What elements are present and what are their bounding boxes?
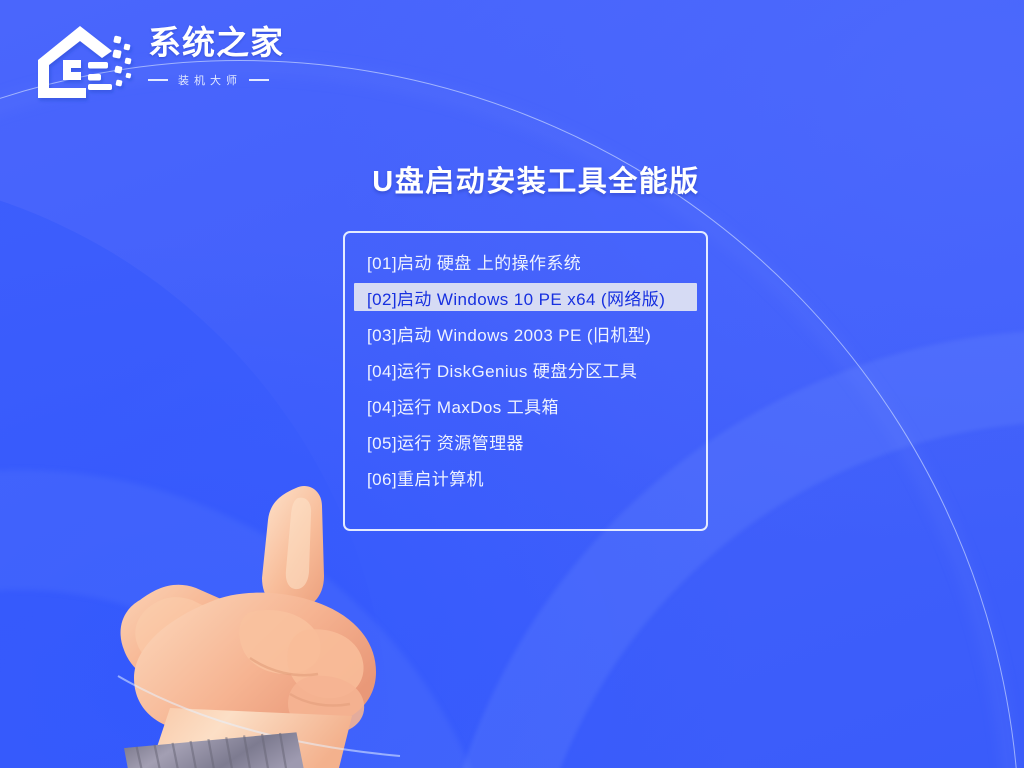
boot-menu-item-label: [04]运行 DiskGenius 硬盘分区工具	[367, 357, 637, 382]
brand-title: 系统之家	[148, 24, 298, 63]
pointing-hand-icon	[100, 480, 420, 768]
boot-menu-item[interactable]: [01]启动 硬盘 上的操作系统	[354, 247, 697, 275]
boot-menu-list[interactable]: [01]启动 硬盘 上的操作系统[02]启动 Windows 10 PE x64…	[345, 247, 706, 499]
boot-menu-item-label: [01]启动 硬盘 上的操作系统	[367, 249, 581, 274]
brand-logo: 系统之家 装机大师	[36, 18, 296, 106]
boot-menu-screen: 系统之家 装机大师 U盘启动安装工具全能版 [01]启动 硬盘 上的操作系统[0…	[0, 0, 1024, 768]
boot-menu-item[interactable]: [02]启动 Windows 10 PE x64 (网络版)	[354, 283, 697, 311]
boot-menu-item[interactable]: [04]运行 DiskGenius 硬盘分区工具	[354, 355, 697, 383]
brand-subtitle-row: 装机大师	[148, 72, 298, 88]
house-pixel-logo-icon	[36, 20, 140, 104]
subtitle-dash-left	[148, 79, 168, 81]
boot-menu-item[interactable]: [05]运行 资源管理器	[354, 427, 697, 455]
boot-menu-item-label: [04]运行 MaxDos 工具箱	[367, 393, 559, 418]
brand-subtitle: 装机大师	[175, 72, 242, 88]
boot-menu-item-label: [03]启动 Windows 2003 PE (旧机型)	[367, 321, 651, 346]
boot-menu-item-label: [02]启动 Windows 10 PE x64 (网络版)	[367, 285, 665, 310]
brand-text: 系统之家 装机大师	[148, 24, 298, 88]
boot-menu-item[interactable]: [04]运行 MaxDos 工具箱	[354, 391, 697, 419]
boot-menu-item[interactable]: [03]启动 Windows 2003 PE (旧机型)	[354, 319, 697, 347]
page-title-text: U盘启动安装工具全能版	[372, 158, 699, 200]
boot-menu-item-label: [05]运行 资源管理器	[367, 429, 524, 454]
subtitle-dash-right	[249, 79, 269, 81]
page-title: U盘启动安装工具全能版	[0, 158, 1024, 200]
